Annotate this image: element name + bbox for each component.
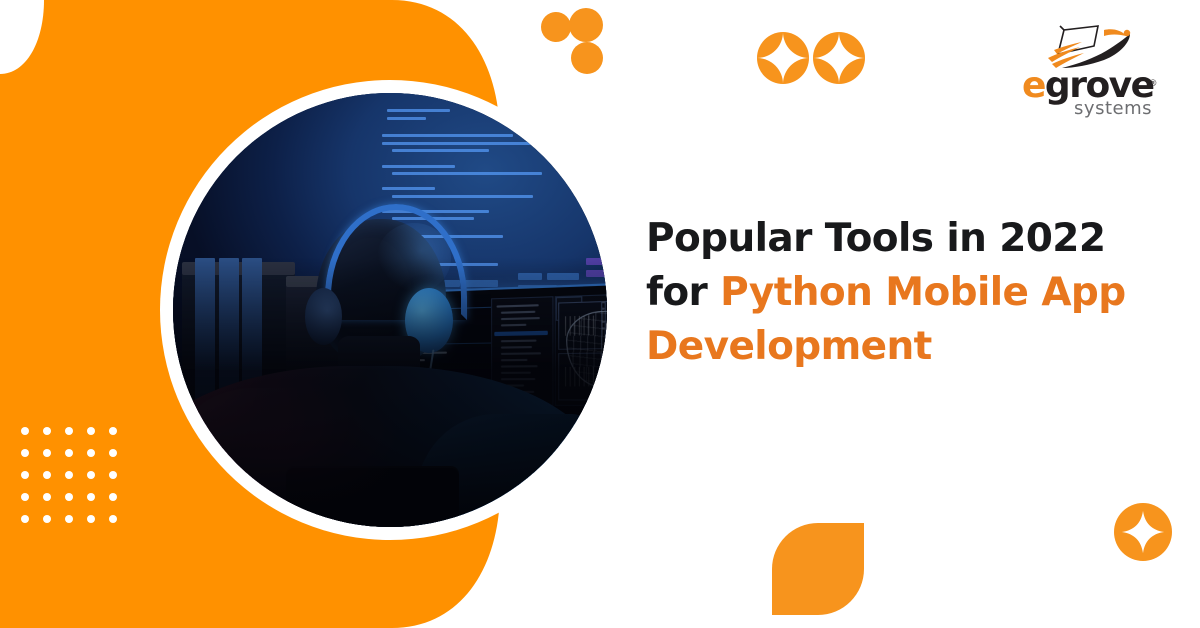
registered-mark: ®	[1149, 66, 1157, 102]
photo-vignette	[173, 258, 607, 527]
logo-word-systems: systems	[1074, 98, 1152, 119]
egrove-systems-logo[interactable]: egrove ® systems	[1022, 24, 1154, 124]
headline-line-2-plain: for	[646, 270, 720, 315]
three-dots-cluster-icon	[541, 8, 607, 78]
logo-wordmark: egrove ® systems	[1022, 68, 1154, 124]
banner-canvas: egrove ® systems Popular Tools in 2022 f…	[0, 0, 1200, 628]
logo-letter-e: e	[1022, 65, 1045, 106]
headline-line-2-accent: Python Mobile App	[720, 270, 1125, 315]
page-title: Popular Tools in 2022 for Python Mobile …	[646, 212, 1170, 374]
headline-line-3-accent: Development	[646, 324, 932, 369]
hero-photo	[173, 93, 607, 527]
hero-photo-ring	[160, 80, 620, 540]
headline-line-1: Popular Tools in 2022	[646, 216, 1105, 261]
sparkle-star-cutout	[1121, 510, 1165, 554]
dot-grid-icon	[14, 420, 124, 530]
sparkle-star-circle-icon	[1114, 503, 1172, 561]
leaf-square-icon	[772, 523, 864, 615]
corner-notch-shape	[0, 0, 44, 74]
four-petal-flower-icon	[814, 30, 864, 86]
photo-scene	[173, 93, 607, 527]
four-petal-flower-icon	[758, 30, 808, 86]
four-petal-flower-pair	[758, 30, 864, 86]
